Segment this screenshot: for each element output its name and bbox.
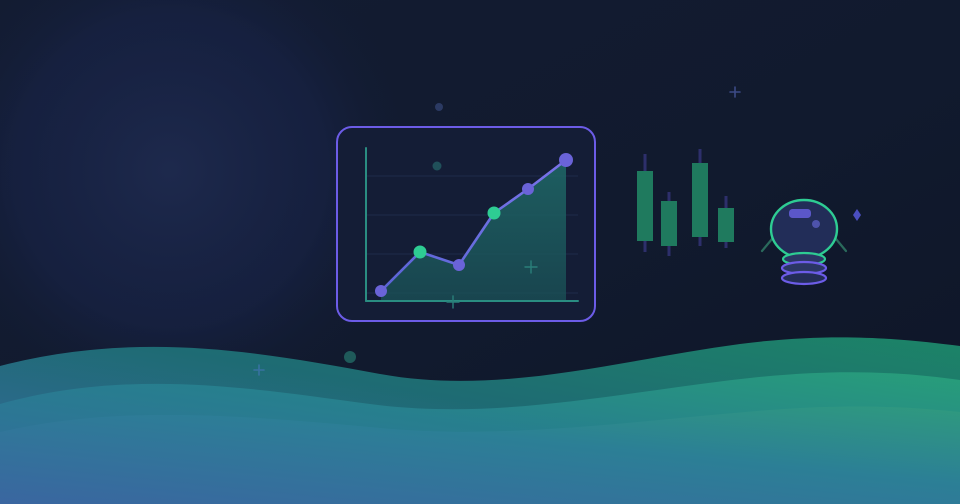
candlestick-body [637,171,653,241]
lightbulb-base-ring-3 [782,272,826,284]
tablet-device-frame[interactable] [337,127,595,321]
data-point-1 [375,285,387,297]
hero-illustration [0,0,960,504]
sparkle-dot-top-left [435,103,443,111]
data-point-5 [522,183,534,195]
candlestick-body [692,163,708,237]
data-point-2 [414,246,427,259]
sparkle-dot-wave [344,351,356,363]
candlestick-3 [692,149,708,246]
candlestick-body [718,208,734,242]
lightbulb-highlight-bar [789,209,811,218]
data-point-4 [488,207,501,220]
illustration-canvas [0,0,960,504]
data-point-3 [453,259,465,271]
lightbulb-glass [771,200,837,258]
candlestick-body [661,201,677,246]
lightbulb-highlight-dot [812,220,820,228]
data-point-6 [559,153,573,167]
dot-marker-upper [433,162,442,171]
